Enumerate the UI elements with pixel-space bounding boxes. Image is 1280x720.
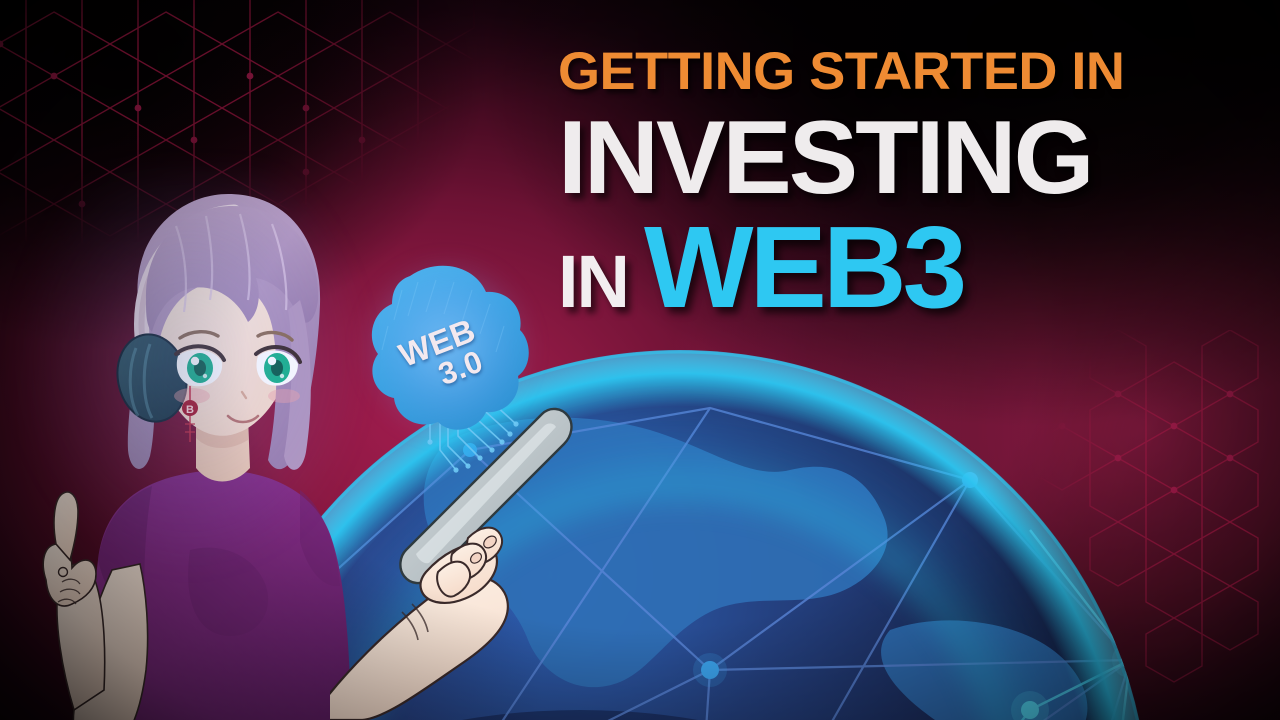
title-third-highlight: WEB3 — [644, 212, 963, 322]
title-block: GETTING STARTED IN INVESTING IN WEB3 — [558, 44, 1258, 337]
thumbnail-canvas: WEB 3.0 — [0, 0, 1280, 720]
title-main: INVESTING — [558, 106, 1258, 210]
title-third-prefix: IN — [558, 227, 628, 337]
title-third-line: IN WEB3 — [558, 212, 1258, 337]
title-eyebrow: GETTING STARTED IN — [558, 44, 1272, 100]
